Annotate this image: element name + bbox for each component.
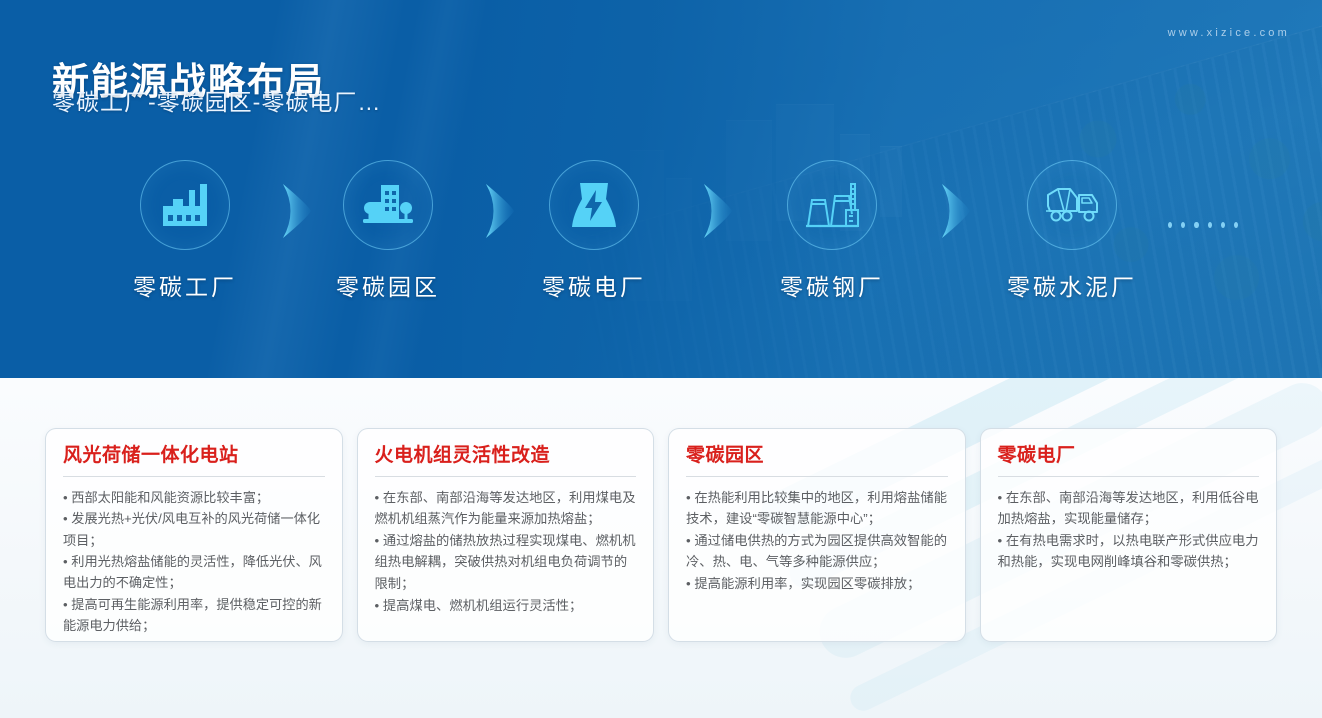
card-bullet: • 在有热电需求时，以热电联产形式供应电力和热能，实现电网削峰填谷和零碳供热； — [998, 530, 1260, 573]
card-bullet: • 提高煤电、燃机机组运行灵活性； — [375, 595, 637, 617]
flow-continuation-dots — [1168, 222, 1238, 228]
card-body: • 在东部、南部沿海等发达地区，利用煤电及燃机机组蒸汽作为能量来源加热熔盐； •… — [375, 487, 637, 616]
power-plant-bolt-icon-ring — [549, 160, 639, 250]
cement-mixer-truck-icon-ring — [1027, 160, 1117, 250]
card-divider — [998, 476, 1260, 477]
card-body: • 在东部、南部沿海等发达地区，利用低谷电加热熔盐，实现能量储存； • 在有热电… — [998, 487, 1260, 573]
page-subtitle: 零碳工厂-零碳园区-零碳电厂… — [52, 83, 381, 117]
flow-node-label: 零碳工厂 — [95, 268, 275, 302]
card-list: 风光荷储一体化电站 • 西部太阳能和风能资源比较丰富； • 发展光热+光伏/风电… — [0, 428, 1322, 642]
flow-node-industrial-park[interactable]: 零碳园区 — [298, 160, 478, 302]
card-bullet: • 西部太阳能和风能资源比较丰富； — [63, 487, 325, 508]
flow-node-steel-mill[interactable]: 零碳钢厂 — [742, 160, 922, 302]
flow-node-label: 零碳水泥厂 — [982, 268, 1162, 302]
card-thermal-unit-flexibility[interactable]: 火电机组灵活性改造 • 在东部、南部沿海等发达地区，利用煤电及燃机机组蒸汽作为能… — [357, 428, 655, 642]
zero-carbon-flow: 零碳工厂 — [0, 160, 1322, 310]
card-bullet: • 通过熔盐的储热放热过程实现煤电、燃机机组热电解耦，突破供热对机组电负荷调节的… — [375, 530, 637, 595]
steel-mill-icon — [805, 180, 859, 230]
power-plant-bolt-icon — [571, 181, 617, 229]
slide-root: 新能源战略布局 零碳工厂-零碳园区-零碳电厂… www.xizice.com 零… — [0, 0, 1322, 718]
flow-node-label: 零碳钢厂 — [742, 268, 922, 302]
card-zero-carbon-park[interactable]: 零碳园区 • 在热能利用比较集中的地区，利用熔盐储能技术，建设“零碳智慧能源中心… — [668, 428, 966, 642]
flow-node-label: 零碳电厂 — [504, 268, 684, 302]
flow-node-factory[interactable]: 零碳工厂 — [95, 160, 275, 302]
industrial-park-icon-ring — [343, 160, 433, 250]
card-zero-carbon-power-plant[interactable]: 零碳电厂 • 在东部、南部沿海等发达地区，利用低谷电加热熔盐，实现能量储存； •… — [980, 428, 1278, 642]
flow-node-label: 零碳园区 — [298, 268, 478, 302]
card-body: • 在热能利用比较集中的地区，利用熔盐储能技术，建设“零碳智慧能源中心”； • … — [686, 487, 948, 595]
details-panel: 风光荷储一体化电站 • 西部太阳能和风能资源比较丰富； • 发展光热+光伏/风电… — [0, 378, 1322, 718]
chevron-right-icon — [940, 184, 980, 238]
card-divider — [686, 476, 948, 477]
card-bullet: • 提高能源利用率，实现园区零碳排放； — [686, 573, 948, 595]
card-divider — [63, 476, 325, 477]
card-renewable-integrated-station[interactable]: 风光荷储一体化电站 • 西部太阳能和风能资源比较丰富； • 发展光热+光伏/风电… — [45, 428, 343, 642]
card-body: • 西部太阳能和风能资源比较丰富； • 发展光热+光伏/风电互补的风光荷储一体化… — [63, 487, 325, 637]
factory-icon-ring — [140, 160, 230, 250]
card-bullet: • 通过储电供热的方式为园区提供高效智能的冷、热、电、气等多种能源供应； — [686, 530, 948, 573]
chevron-right-icon — [702, 184, 742, 238]
watermark-url: www.xizice.com — [1168, 27, 1290, 39]
factory-icon — [160, 182, 210, 228]
card-title: 风光荷储一体化电站 — [63, 445, 325, 467]
card-title: 火电机组灵活性改造 — [375, 445, 637, 467]
hero-section: 新能源战略布局 零碳工厂-零碳园区-零碳电厂… www.xizice.com 零… — [0, 0, 1322, 378]
flow-node-power-plant[interactable]: 零碳电厂 — [504, 160, 684, 302]
card-bullet: • 在热能利用比较集中的地区，利用熔盐储能技术，建设“零碳智慧能源中心”； — [686, 487, 948, 530]
card-bullet: • 提高可再生能源利用率，提供稳定可控的新能源电力供给； — [63, 594, 325, 637]
cement-mixer-truck-icon — [1044, 184, 1100, 226]
flow-node-cement-plant[interactable]: 零碳水泥厂 — [982, 160, 1162, 302]
industrial-park-icon — [362, 182, 414, 228]
card-title: 零碳电厂 — [998, 445, 1260, 467]
card-bullet: • 发展光热+光伏/风电互补的风光荷储一体化项目； — [63, 508, 325, 551]
card-bullet: • 在东部、南部沿海等发达地区，利用低谷电加热熔盐，实现能量储存； — [998, 487, 1260, 530]
card-title: 零碳园区 — [686, 445, 948, 467]
card-bullet: • 在东部、南部沿海等发达地区，利用煤电及燃机机组蒸汽作为能量来源加热熔盐； — [375, 487, 637, 530]
card-divider — [375, 476, 637, 477]
steel-mill-icon-ring — [787, 160, 877, 250]
card-bullet: • 利用光热熔盐储能的灵活性，降低光伏、风电出力的不确定性； — [63, 551, 325, 594]
